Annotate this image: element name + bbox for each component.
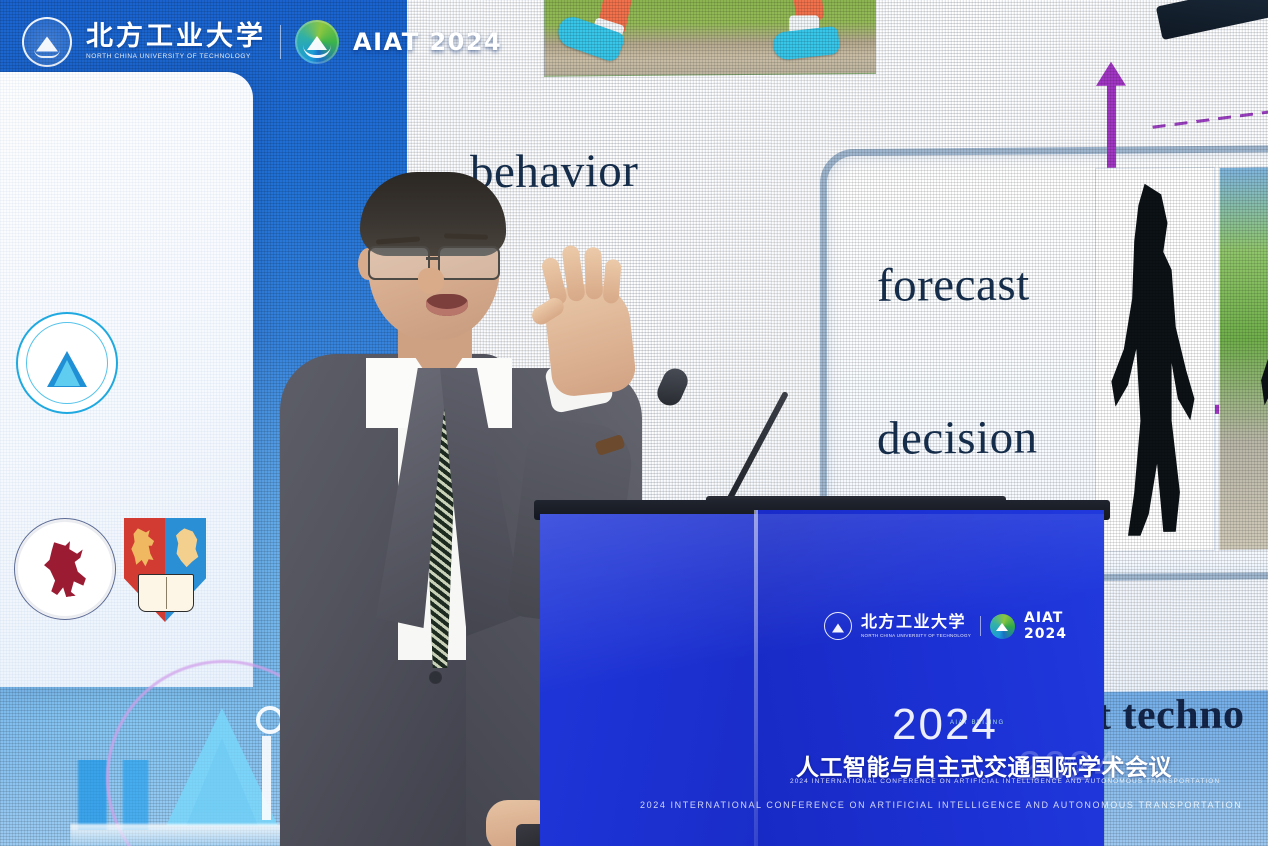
speaker-nose (418, 268, 444, 294)
aiat-logo-text: AIAT 2024 (353, 28, 502, 56)
aiat-mountain-icon (295, 20, 339, 64)
podium-title-en: 2024 INTERNATIONAL CONFERENCE ON ARTIFIC… (790, 778, 1220, 785)
aiat-mountain-icon (990, 614, 1015, 639)
pedestrian-silhouette-icon (1095, 167, 1215, 552)
university-name-block: 北方工业大学 NORTH CHINA UNIVERSITY OF TECHNOL… (86, 23, 266, 61)
tianjin-university-seal-icon (16, 312, 118, 414)
podium-university-block: 北方工业大学 NORTH CHINA UNIVERSITY OF TECHNOL… (861, 615, 971, 638)
speaker-raised-hand (542, 280, 637, 398)
lens-right (438, 246, 500, 280)
seal-inner-ring (26, 322, 108, 404)
podium-university-en: NORTH CHINA UNIVERSITY OF TECHNOLOGY (861, 633, 971, 638)
pedestrian-silhouette-icon (1219, 166, 1268, 551)
sponsor-logo-panel (0, 72, 253, 687)
finger (603, 259, 622, 304)
podium-corner-edge (754, 510, 758, 846)
city-letter-i (262, 736, 271, 820)
birmingham-shield-crest-icon (124, 518, 206, 622)
slide-partial-title-en: t techno (1097, 691, 1244, 740)
speaker-mouth (426, 294, 468, 316)
runner-photo-icon (544, 0, 876, 77)
podium-face-right (756, 510, 1104, 846)
backdrop-banner-logos: 北方工业大学 NORTH CHINA UNIVERSITY OF TECHNOL… (22, 14, 502, 70)
runner-shoe (772, 26, 841, 61)
speaker-podium: 北方工业大学 NORTH CHINA UNIVERSITY OF TECHNOL… (540, 506, 1104, 846)
podium-year-tag: AIAT BEIJING (950, 720, 1005, 726)
university-seal-icon (22, 17, 72, 67)
podium-university-cn: 北方工业大学 (861, 615, 971, 631)
jacket-button (430, 672, 441, 683)
podium-logo-row: 北方工业大学 NORTH CHINA UNIVERSITY OF TECHNOL… (824, 610, 1104, 642)
finger (584, 247, 603, 300)
slide-word-forecast: forecast (877, 257, 1030, 312)
university-name-en: NORTH CHINA UNIVERSITY OF TECHNOLOGY (86, 54, 266, 61)
podium-aiat-label: AIAT 2024 (1024, 610, 1104, 642)
university-name-cn: 北方工业大学 (86, 23, 266, 50)
vertical-divider-icon (280, 25, 281, 59)
podium-title-cn: 人工智能与自主式交通国际学术会议 (796, 748, 1172, 782)
slide-word-decision: decision (877, 410, 1038, 465)
university-seal-icon (824, 612, 852, 640)
pedestrian-body (1103, 183, 1207, 543)
conference-photo-stage: behavior forecast decision t techno 通国际学… (0, 0, 1268, 846)
podium-face-left (540, 514, 758, 846)
slide-partial-subtitle-en: 2024 INTERNATIONAL CONFERENCE ON ARTIFIC… (640, 800, 1242, 810)
crest-book (138, 574, 194, 611)
vertical-divider-icon (980, 616, 981, 636)
pedestrian-background-photo (1220, 167, 1268, 550)
salford-lion-crest-icon (14, 518, 116, 620)
